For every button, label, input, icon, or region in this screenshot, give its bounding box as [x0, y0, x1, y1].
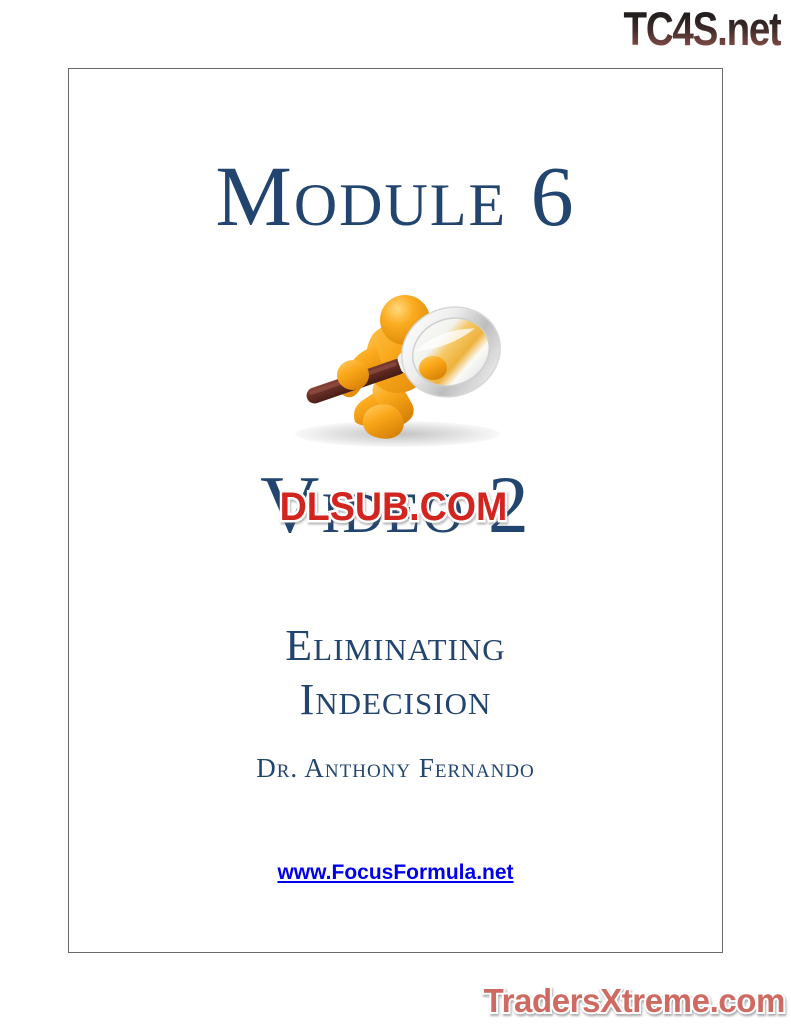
- page-title-module: Module 6: [69, 153, 722, 239]
- watermark-tc4s: TC4S.net: [624, 2, 781, 56]
- page-subtitle: Eliminating Indecision: [69, 619, 722, 726]
- person-with-magnifying-glass-icon: [281, 274, 511, 449]
- website-link[interactable]: www.FocusFormula.net: [277, 861, 513, 884]
- cover-illustration: [281, 274, 511, 449]
- page-subtitle-line-1: Eliminating: [285, 621, 505, 670]
- page-subtitle-line-2: Indecision: [69, 673, 722, 727]
- watermark-tradersxtreme: TradersXtreme.com: [484, 981, 785, 1021]
- watermark-dlsub: DLSUB.COM: [273, 484, 512, 532]
- cover-page-sheet: Module 6: [68, 68, 723, 953]
- author-name: Dr. Anthony Fernando: [69, 753, 722, 784]
- website-link-container: www.FocusFormula.net: [69, 861, 722, 885]
- video-title-block: Video 2 DLSUB.COM: [69, 464, 722, 574]
